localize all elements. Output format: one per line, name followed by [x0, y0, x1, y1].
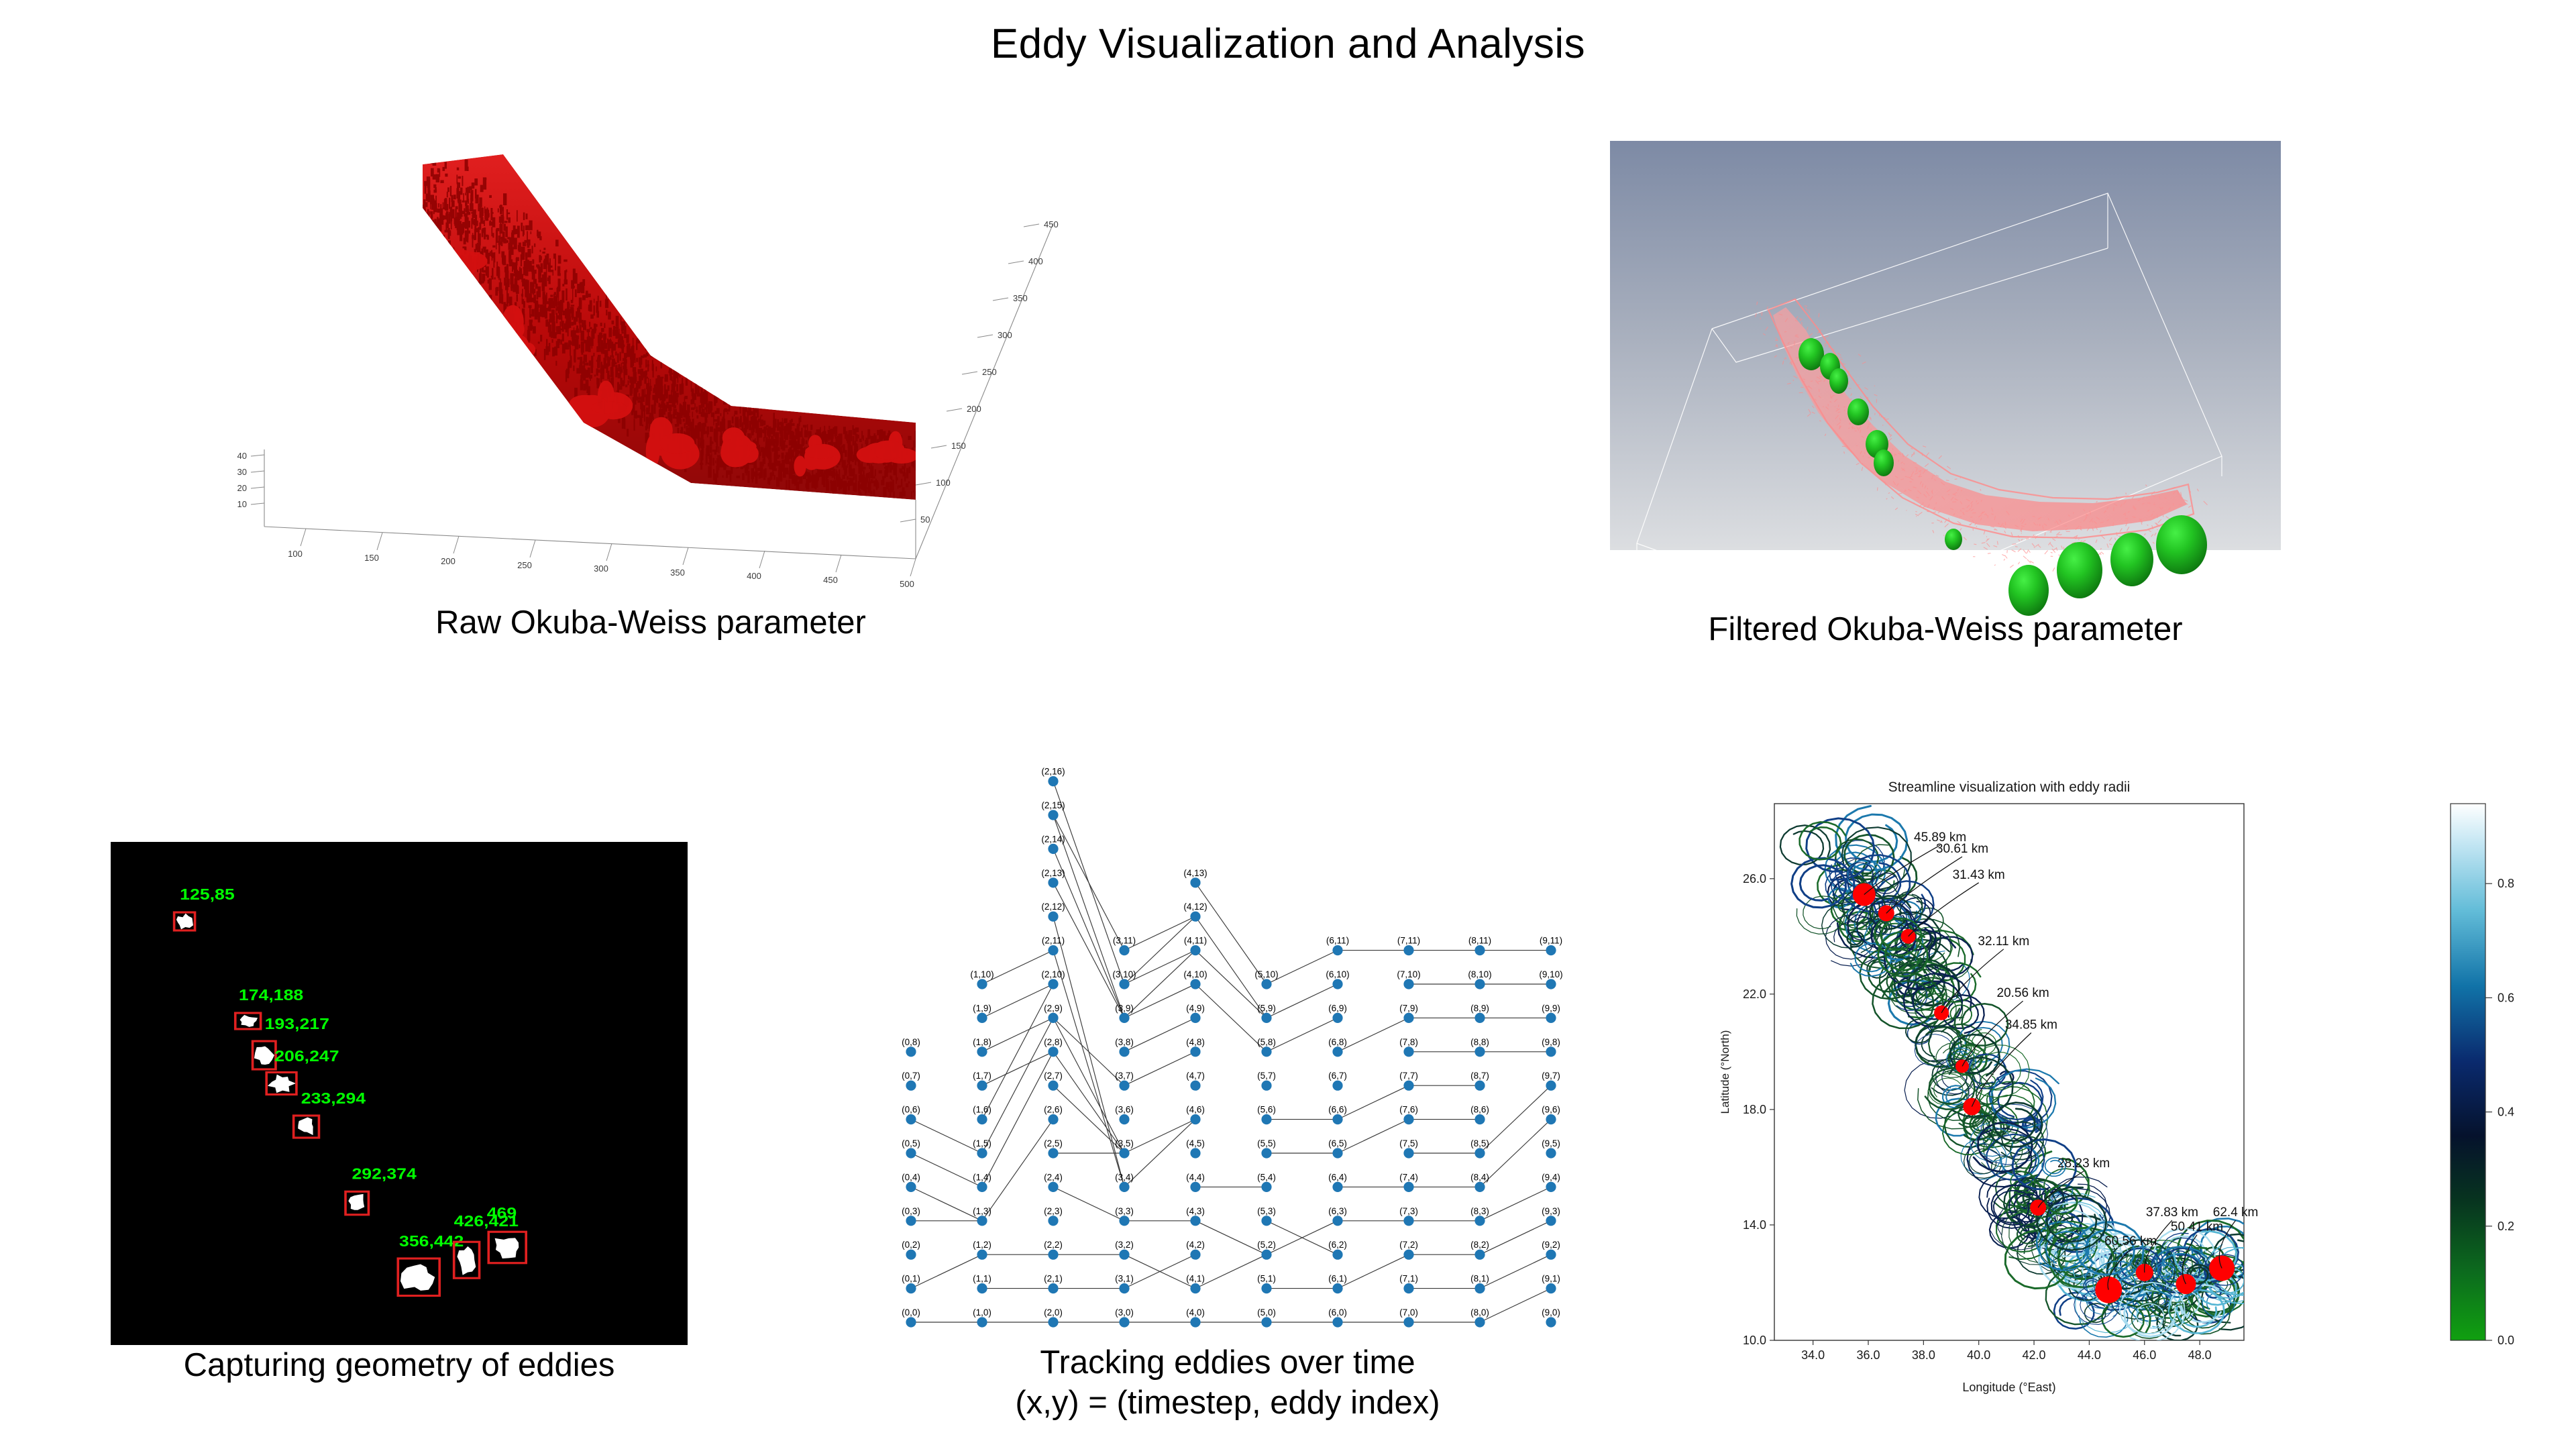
tracking-edge	[1267, 1018, 1338, 1051]
tracking-node-label: (2,16)	[1041, 767, 1065, 777]
tracking-edge	[1338, 1018, 1409, 1051]
panel-tracking-graph: (0,0)(0,1)(0,2)(0,3)(0,4)(0,5)(0,6)(0,7)…	[892, 741, 1563, 1345]
tracking-node[interactable]	[1119, 1317, 1129, 1327]
tracking-edge	[982, 984, 1053, 1120]
tracking-node-label: (8,3)	[1470, 1206, 1489, 1216]
tracking-node[interactable]	[906, 1250, 916, 1260]
tracking-node-label: (2,10)	[1041, 969, 1065, 979]
raw-isosurface	[392, 153, 938, 504]
tracking-node[interactable]	[1048, 1317, 1058, 1327]
tracking-node[interactable]	[1119, 979, 1129, 989]
tracking-node[interactable]	[1332, 979, 1342, 989]
x-tick-label: 44.0	[2078, 1348, 2101, 1362]
tracking-node-label: (3,11)	[1113, 936, 1136, 946]
tracking-node-label: (1,7)	[973, 1071, 991, 1081]
tracking-node[interactable]	[1403, 1148, 1413, 1158]
tracking-node-label: (2,4)	[1044, 1172, 1063, 1182]
tracking-node-label: (8,8)	[1470, 1037, 1489, 1047]
tracking-node[interactable]	[1332, 1148, 1342, 1158]
eddy-radius-label: 20.56 km	[1997, 986, 2049, 1000]
svg-text:250: 250	[517, 560, 532, 570]
tracking-node[interactable]	[1474, 1046, 1485, 1057]
tracking-node-label: (2,3)	[1044, 1206, 1063, 1216]
tracking-node[interactable]	[1546, 1114, 1556, 1124]
tracking-node-label: (4,6)	[1186, 1105, 1205, 1115]
x-tick-label: 34.0	[1801, 1348, 1825, 1362]
tracking-node[interactable]	[1119, 1114, 1129, 1124]
tracking-node-label: (2,6)	[1044, 1105, 1063, 1115]
tracking-node-label: (7,11)	[1397, 936, 1420, 946]
tracking-node[interactable]	[906, 1148, 916, 1158]
tracking-node-label: (0,3)	[902, 1206, 920, 1216]
tracking-node[interactable]	[1261, 1283, 1271, 1293]
streamline-ylabel: Latitude (°North)	[1719, 1030, 1731, 1114]
tracking-edge	[1195, 951, 1267, 1018]
tracking-node[interactable]	[1332, 1081, 1342, 1091]
tracking-node[interactable]	[1546, 979, 1556, 989]
tracking-node-label: (2,8)	[1044, 1037, 1063, 1047]
tracking-edge	[911, 1120, 982, 1153]
tracking-node-label: (6,4)	[1328, 1172, 1347, 1182]
tracking-node-label: (6,7)	[1328, 1071, 1347, 1081]
tracking-node[interactable]	[1403, 1250, 1413, 1260]
tracking-node-label: (8,6)	[1470, 1105, 1489, 1115]
tracking-node-label: (5,4)	[1257, 1172, 1276, 1182]
tracking-edges	[911, 782, 1551, 1322]
tracking-node-label: (4,10)	[1183, 969, 1207, 979]
eddy-radius-label: 34.85 km	[2005, 1018, 2057, 1032]
eddy-radius-label: 50.41 km	[2171, 1220, 2223, 1234]
tracking-node[interactable]	[1403, 1283, 1413, 1293]
tracking-node[interactable]	[1546, 1081, 1556, 1091]
tracking-node[interactable]	[906, 1081, 916, 1091]
tracking-node[interactable]	[1048, 945, 1058, 955]
tracking-node-label: (4,5)	[1186, 1138, 1205, 1148]
tracking-node[interactable]	[1546, 1182, 1556, 1192]
tracking-node[interactable]	[1190, 1081, 1200, 1091]
tracking-edge	[1053, 1018, 1124, 1085]
tracking-node-label: (2,1)	[1044, 1274, 1063, 1284]
tracking-edge	[1480, 1085, 1551, 1153]
tracking-node[interactable]	[906, 1046, 916, 1057]
tracking-node[interactable]	[977, 979, 987, 989]
tracking-node[interactable]	[1190, 1013, 1200, 1023]
y-tick-label: 22.0	[1743, 987, 1766, 1001]
tracking-edge	[982, 1018, 1053, 1153]
caption-geometry: Capturing geometry of eddies	[57, 1346, 741, 1384]
tracking-node[interactable]	[1403, 1013, 1413, 1023]
tracking-node[interactable]	[1261, 1250, 1271, 1260]
tracking-node[interactable]	[906, 1114, 916, 1124]
svg-text:200: 200	[441, 556, 455, 566]
svg-text:400: 400	[1028, 256, 1043, 266]
svg-text:300: 300	[998, 330, 1012, 340]
tracking-node-label: (9,4)	[1542, 1172, 1560, 1182]
tracking-edge	[1195, 1254, 1267, 1288]
tracking-node[interactable]	[1190, 1148, 1200, 1158]
tracking-node[interactable]	[1190, 1182, 1200, 1192]
tracking-node[interactable]	[1190, 1283, 1200, 1293]
tracking-node-label: (7,1)	[1399, 1274, 1418, 1284]
tracking-node-label: (1,6)	[973, 1105, 991, 1115]
tracking-node[interactable]	[1332, 1283, 1342, 1293]
tracking-node[interactable]	[1403, 1182, 1413, 1192]
tracking-node-label: (6,2)	[1328, 1240, 1347, 1250]
tracking-edge	[1480, 1254, 1551, 1288]
tracking-node[interactable]	[1403, 979, 1413, 989]
tracking-node[interactable]	[1474, 1114, 1485, 1124]
tracking-edge	[1195, 984, 1267, 1052]
tracking-node-label: (1,8)	[973, 1037, 991, 1047]
tracking-node[interactable]	[1403, 1114, 1413, 1124]
tracking-node[interactable]	[1332, 1250, 1342, 1260]
eddy-radius-label: 60.56 km	[2104, 1234, 2157, 1248]
tracking-node[interactable]	[1474, 1081, 1485, 1091]
tracking-node[interactable]	[1332, 1046, 1342, 1057]
tracking-node-label: (6,5)	[1328, 1138, 1347, 1148]
tracking-node[interactable]	[1048, 1283, 1058, 1293]
tracking-node[interactable]	[1048, 979, 1058, 989]
eddy-center-marker[interactable]	[1934, 1006, 1949, 1020]
x-tick-label: 48.0	[2188, 1348, 2212, 1362]
tracking-node-label: (2,9)	[1044, 1003, 1063, 1013]
tracking-edge	[1338, 1085, 1409, 1119]
tracking-node[interactable]	[1546, 1148, 1556, 1158]
tracking-node[interactable]	[1048, 1081, 1058, 1091]
tracking-node-label: (0,2)	[902, 1240, 920, 1250]
tracking-node-label: (9,1)	[1542, 1274, 1560, 1284]
tracking-node[interactable]	[1048, 1148, 1058, 1158]
tracking-node[interactable]	[1119, 1046, 1129, 1057]
tracking-node[interactable]	[1190, 945, 1200, 955]
tracking-node[interactable]	[1332, 1114, 1342, 1124]
tracking-node[interactable]	[1048, 776, 1058, 786]
y-tick-label: 26.0	[1743, 872, 1766, 885]
tracking-node[interactable]	[1546, 945, 1556, 955]
tracking-node-label: (5,3)	[1257, 1206, 1276, 1216]
eddy-coordinate-label: 292,374	[352, 1165, 416, 1183]
tracking-node-label: (4,11)	[1184, 936, 1207, 946]
tracking-node[interactable]	[977, 1283, 987, 1293]
tracking-edge	[1480, 1221, 1551, 1254]
tracking-node-label: (9,2)	[1542, 1240, 1560, 1250]
tracking-node[interactable]	[1261, 1114, 1271, 1124]
tracking-node[interactable]	[1119, 1283, 1129, 1293]
svg-text:350: 350	[670, 568, 685, 578]
tracking-node[interactable]	[1474, 1013, 1485, 1023]
tracking-node[interactable]	[977, 1013, 987, 1023]
tracking-node-label: (0,6)	[902, 1105, 920, 1115]
tracking-node[interactable]	[1048, 1182, 1058, 1192]
eddy-coordinate-label: 233,294	[301, 1090, 366, 1108]
svg-text:500: 500	[900, 579, 914, 589]
tracking-node[interactable]	[1048, 1114, 1058, 1124]
tracking-node-label: (0,5)	[902, 1138, 920, 1148]
x-tick-label: 40.0	[1967, 1348, 1990, 1362]
tracking-node[interactable]	[977, 1114, 987, 1124]
tracking-node[interactable]	[977, 1317, 987, 1327]
svg-text:200: 200	[967, 404, 981, 414]
tracking-edge	[911, 1153, 982, 1187]
tracking-edge	[1338, 1254, 1409, 1288]
tracking-node[interactable]	[1332, 1013, 1342, 1023]
tracking-node[interactable]	[1546, 1283, 1556, 1293]
tracking-node[interactable]	[1048, 912, 1058, 922]
tracking-node[interactable]	[1119, 1013, 1129, 1023]
streamline-xlabel: Longitude (°East)	[1962, 1381, 2055, 1394]
tracking-node[interactable]	[1048, 810, 1058, 820]
panel-streamline-map: Streamline visualization with eddy radii…	[1714, 771, 2576, 1402]
tracking-node-label: (5,5)	[1257, 1138, 1276, 1148]
tracking-node-label: (8,9)	[1470, 1003, 1489, 1013]
tracking-node-label: (5,7)	[1257, 1071, 1276, 1081]
tracking-edge	[1195, 1221, 1267, 1254]
tracking-edge	[982, 984, 1053, 1018]
tracking-node[interactable]	[1474, 1250, 1485, 1260]
y-tick-label: 14.0	[1743, 1218, 1766, 1232]
tracking-node-label: (9,10)	[1539, 969, 1562, 979]
tracking-node[interactable]	[1048, 1046, 1058, 1057]
tracking-node[interactable]	[1048, 1250, 1058, 1260]
tracking-node[interactable]	[1190, 1250, 1200, 1260]
tracking-node[interactable]	[1403, 1081, 1413, 1091]
tracking-node-label: (1,0)	[973, 1307, 991, 1318]
eddy-coordinate-label: 174,188	[239, 987, 303, 1004]
tracking-node[interactable]	[1119, 1148, 1129, 1158]
tracking-edge	[1124, 1052, 1195, 1085]
tracking-node[interactable]	[1474, 1317, 1485, 1327]
tracking-node[interactable]	[977, 1148, 987, 1158]
tracking-node[interactable]	[1190, 1317, 1200, 1327]
tracking-node-label: (3,9)	[1115, 1003, 1134, 1013]
tracking-edge	[911, 1254, 982, 1288]
svg-text:400: 400	[747, 571, 761, 581]
colorbar-tick-label: 0.0	[2498, 1334, 2514, 1347]
tracking-node[interactable]	[1474, 945, 1485, 955]
svg-text:100: 100	[936, 478, 951, 488]
caption-filtered: Filtered Okuba-Weiss parameter	[1570, 610, 2321, 648]
raw-3d-svg: 40 30 20 10 100 150 200 250 300 350 400 …	[221, 134, 1080, 590]
tracking-node-label: (9,8)	[1542, 1037, 1560, 1047]
tracking-node[interactable]	[1261, 1046, 1271, 1057]
tracking-node[interactable]	[1261, 1013, 1271, 1023]
tracking-node-label: (4,1)	[1186, 1274, 1205, 1284]
tracking-node[interactable]	[1119, 945, 1129, 955]
svg-text:30: 30	[237, 467, 247, 477]
svg-text:100: 100	[288, 549, 303, 559]
tracking-node[interactable]	[1048, 877, 1058, 888]
tracking-node[interactable]	[906, 1317, 916, 1327]
tracking-node[interactable]	[977, 1250, 987, 1260]
tracking-node[interactable]	[1119, 1250, 1129, 1260]
tracking-node-label: (3,10)	[1112, 969, 1136, 979]
tracking-node-label: (8,2)	[1470, 1240, 1489, 1250]
tracking-node[interactable]	[977, 1081, 987, 1091]
tracking-node[interactable]	[1190, 979, 1200, 989]
tracking-node-label: (4,9)	[1186, 1003, 1205, 1013]
tracking-node-label: (7,10)	[1397, 969, 1420, 979]
tracking-node-label: (1,9)	[973, 1003, 991, 1013]
page-title: Eddy Visualization and Analysis	[0, 20, 2576, 68]
tracking-node[interactable]	[1332, 945, 1342, 955]
colorbar-ticks: 0.00.20.40.60.8	[2485, 877, 2514, 1347]
tracking-node[interactable]	[1546, 1046, 1556, 1057]
tracking-edge	[1053, 1018, 1124, 1153]
tracking-edge	[1053, 815, 1124, 1018]
tracking-node-label: (4,4)	[1186, 1172, 1205, 1182]
tracking-node-label: (2,13)	[1041, 868, 1065, 878]
x-tick-label: 46.0	[2133, 1348, 2156, 1362]
tracking-node-label: (3,0)	[1115, 1307, 1134, 1318]
raw-3d-z-ticks	[251, 455, 264, 504]
tracking-node[interactable]	[1261, 1182, 1271, 1192]
eddy-radius-label: 31.43 km	[1953, 868, 2005, 882]
tracking-node[interactable]	[1261, 1148, 1271, 1158]
tracking-edge	[1124, 984, 1195, 1018]
tracking-node-label: (1,2)	[973, 1240, 991, 1250]
tracking-node[interactable]	[1119, 1182, 1129, 1192]
tracking-node[interactable]	[1403, 1317, 1413, 1327]
tracking-node-label: (2,7)	[1044, 1071, 1063, 1081]
tracking-node[interactable]	[906, 1283, 916, 1293]
tracking-node-label: (0,7)	[902, 1071, 920, 1081]
tracking-node[interactable]	[1474, 1182, 1485, 1192]
colorbar-tick-label: 0.8	[2498, 877, 2514, 890]
tracking-node-label: (9,7)	[1542, 1071, 1560, 1081]
tracking-edge	[1195, 916, 1267, 1018]
tracking-node[interactable]	[1474, 979, 1485, 989]
svg-text:20: 20	[237, 483, 247, 493]
tracking-node-label: (5,1)	[1257, 1274, 1276, 1284]
tracking-node-label: (6,3)	[1328, 1206, 1347, 1216]
tracking-node-label: (8,0)	[1470, 1307, 1489, 1318]
tracking-node[interactable]	[1403, 1046, 1413, 1057]
tracking-node[interactable]	[1190, 877, 1200, 888]
tracking-node-label: (0,8)	[902, 1037, 920, 1047]
tracking-node-label: (6,6)	[1328, 1105, 1347, 1115]
tracking-node-label: (2,11)	[1042, 936, 1065, 946]
tracking-edge	[1267, 984, 1338, 1018]
tracking-node-label: (5,0)	[1257, 1307, 1276, 1318]
tracking-edge	[1124, 951, 1195, 1018]
svg-text:10: 10	[237, 499, 247, 509]
tracking-node[interactable]	[977, 1216, 987, 1226]
tracking-node-label: (6,0)	[1328, 1307, 1347, 1318]
eddy-center-marker[interactable]	[1955, 1059, 1969, 1073]
tracking-node-label: (5,9)	[1257, 1003, 1276, 1013]
streamline-title: Streamline visualization with eddy radii	[1888, 780, 2131, 795]
tracking-node[interactable]	[1048, 1216, 1058, 1226]
tracking-edge	[982, 1120, 1053, 1221]
tracking-node[interactable]	[906, 1216, 916, 1226]
geometry-mask-svg: 125,85174,188193,217206,247233,294292,37…	[111, 842, 688, 1345]
tracking-node[interactable]	[1261, 979, 1271, 989]
tracking-node-label: (3,8)	[1115, 1037, 1134, 1047]
tracking-node[interactable]	[1190, 912, 1200, 922]
eddy-center-marker[interactable]	[1963, 1098, 1980, 1116]
tracking-node-label: (3,6)	[1115, 1105, 1134, 1115]
tracking-node-label: (5,10)	[1254, 969, 1278, 979]
tracking-node[interactable]	[1048, 1013, 1058, 1023]
tracking-node-label: (9,5)	[1542, 1138, 1560, 1148]
tracking-node-label: (8,4)	[1470, 1172, 1489, 1182]
tracking-node[interactable]	[1332, 1317, 1342, 1327]
tracking-node[interactable]	[1261, 1081, 1271, 1091]
tracking-node[interactable]	[1403, 945, 1413, 955]
x-tick-label: 36.0	[1856, 1348, 1880, 1362]
caption-raw: Raw Okuba-Weiss parameter	[221, 604, 1080, 641]
tracking-node[interactable]	[1332, 1182, 1342, 1192]
tracking-node-label: (5,2)	[1257, 1240, 1276, 1250]
tracking-node-label: (7,4)	[1399, 1172, 1418, 1182]
caption-tracking-1: Tracking eddies over time	[852, 1344, 1603, 1381]
tracking-node-label: (6,9)	[1328, 1003, 1347, 1013]
tracking-edge	[1480, 1120, 1551, 1187]
eddy-coordinate-label: 125,85	[180, 886, 235, 904]
tracking-node-label: (2,15)	[1041, 800, 1065, 810]
tracking-node[interactable]	[977, 1182, 987, 1192]
caption-tracking-2: (x,y) = (timestep, eddy index)	[852, 1384, 1603, 1421]
tracking-node[interactable]	[1332, 1216, 1342, 1226]
filtered-3d-svg	[1610, 141, 2281, 604]
tracking-node[interactable]	[1474, 1216, 1485, 1226]
eddy-center-marker[interactable]	[2209, 1256, 2235, 1281]
tracking-node-label: (1,3)	[973, 1206, 991, 1216]
tracking-node[interactable]	[1403, 1216, 1413, 1226]
tracking-node-label: (4,3)	[1186, 1206, 1205, 1216]
tracking-node[interactable]	[1190, 1114, 1200, 1124]
tracking-node[interactable]	[1261, 1317, 1271, 1327]
panel-filtered-okuba-weiss: Filtered Okuba-Weiss parameter	[1610, 141, 2281, 604]
raw-3d-y-labels: 50 100 150 200 250 300 350 400 450	[920, 219, 1059, 525]
y-tick-label: 10.0	[1743, 1334, 1766, 1347]
streamline-svg: Streamline visualization with eddy radii…	[1714, 771, 2576, 1402]
tracking-node[interactable]	[1190, 1216, 1200, 1226]
tracking-node-label: (2,12)	[1041, 902, 1065, 912]
tracking-node[interactable]	[1546, 1216, 1556, 1226]
tracking-node-label: (8,11)	[1468, 936, 1491, 946]
colorbar	[2451, 804, 2485, 1340]
tracking-node[interactable]	[1474, 1283, 1485, 1293]
svg-text:50: 50	[920, 515, 930, 525]
tracking-node[interactable]	[1474, 1148, 1485, 1158]
tracking-node[interactable]	[1546, 1317, 1556, 1327]
tracking-node[interactable]	[1119, 1081, 1129, 1091]
eddy-radius-label: 32.11 km	[1978, 934, 2029, 949]
svg-text:450: 450	[1044, 219, 1059, 229]
tracking-node-label: (4,8)	[1186, 1037, 1205, 1047]
tracking-node-label: (9,9)	[1542, 1003, 1560, 1013]
tracking-node[interactable]	[977, 1046, 987, 1057]
y-tick-label: 18.0	[1743, 1103, 1766, 1116]
tracking-node[interactable]	[1546, 1250, 1556, 1260]
eddy-coordinate-label: 206,247	[274, 1048, 339, 1065]
tracking-node[interactable]	[1048, 844, 1058, 854]
svg-text:150: 150	[364, 553, 379, 563]
tracking-node-label: (4,7)	[1186, 1071, 1205, 1081]
eddy-radius-label: 28.23 km	[2057, 1157, 2110, 1171]
tracking-node-label: (1,1)	[973, 1274, 991, 1284]
panel-raw-okuba-weiss: 40 30 20 10 100 150 200 250 300 350 400 …	[221, 134, 1080, 590]
tracking-edge	[1053, 1052, 1124, 1153]
tracking-node[interactable]	[1190, 1046, 1200, 1057]
tracking-node-label: (9,6)	[1542, 1105, 1560, 1115]
tracking-node[interactable]	[1261, 1216, 1271, 1226]
tracking-node[interactable]	[906, 1182, 916, 1192]
tracking-node[interactable]	[1119, 1216, 1129, 1226]
tracking-node[interactable]	[1546, 1013, 1556, 1023]
colorbar-tick-label: 0.4	[2498, 1106, 2514, 1119]
